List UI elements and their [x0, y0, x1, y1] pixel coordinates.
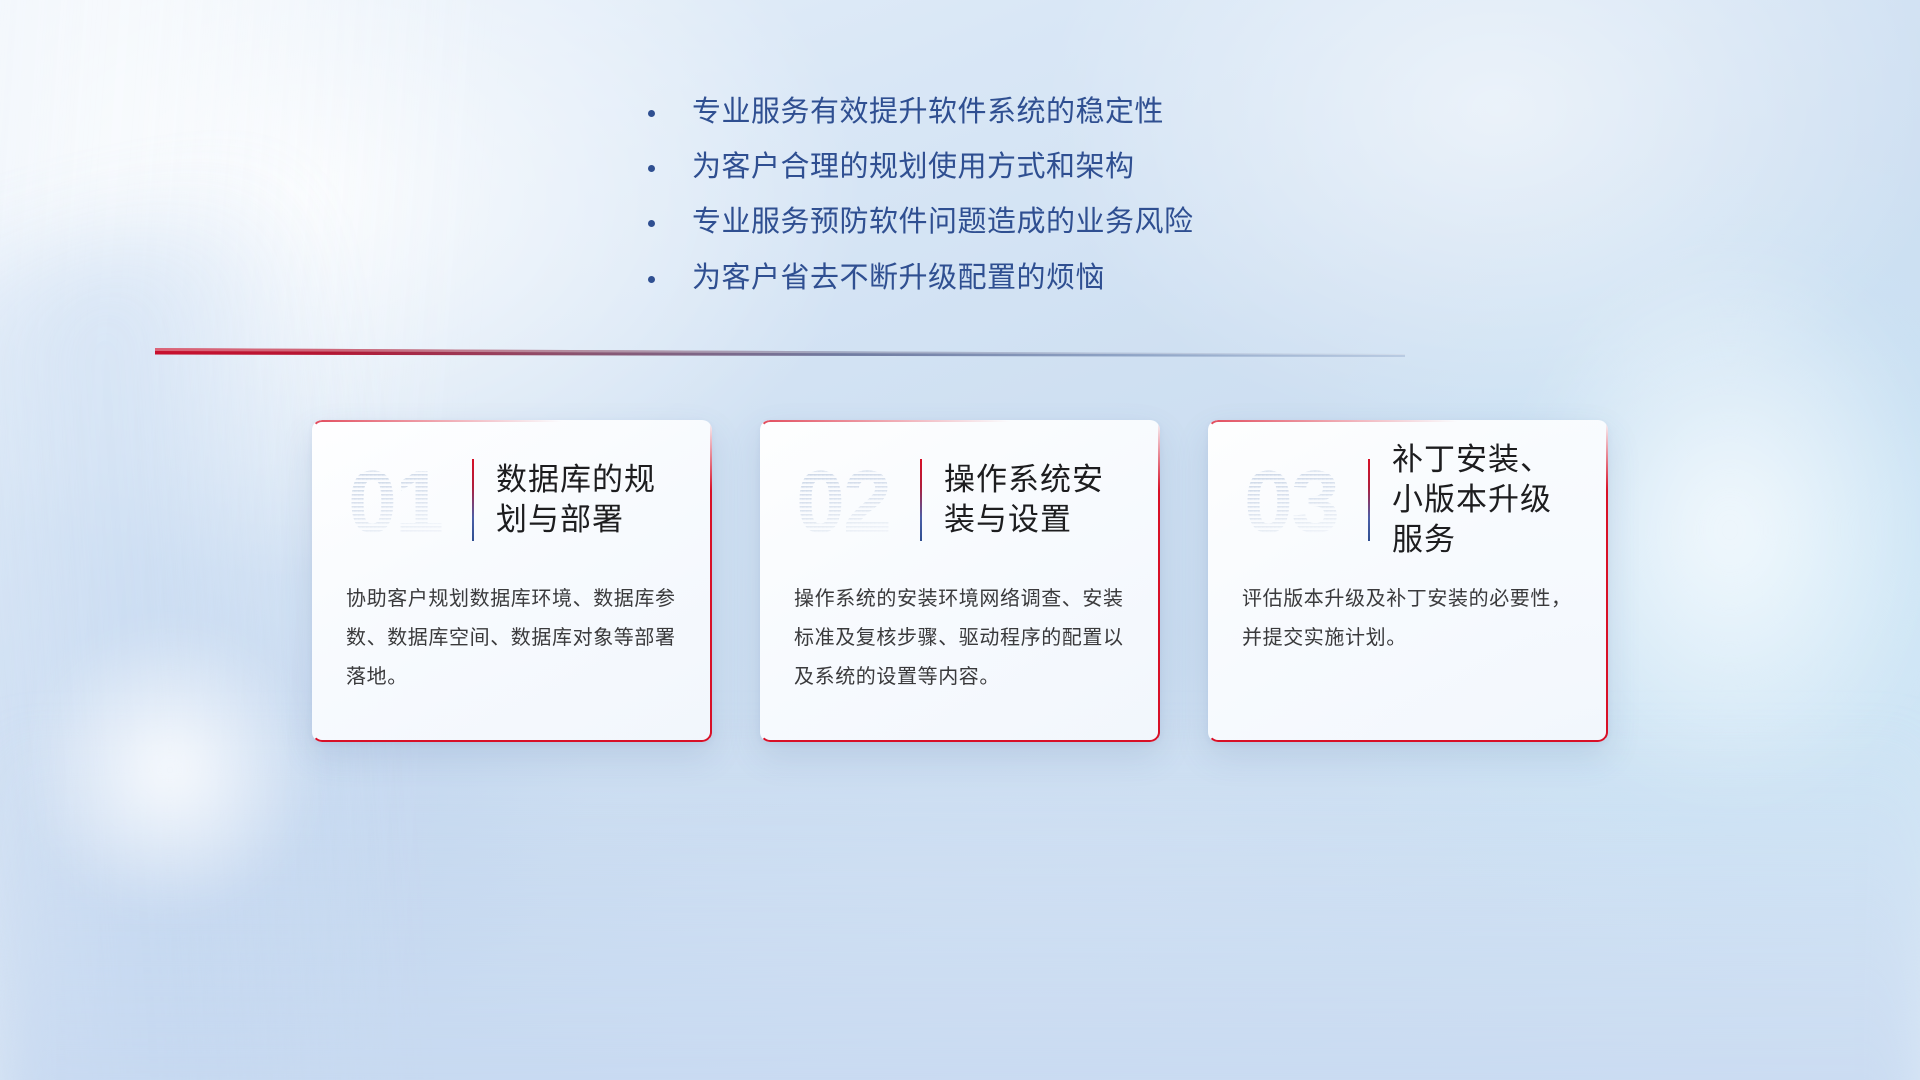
- bullet-text: 专业服务预防软件问题造成的业务风险: [692, 202, 1194, 243]
- card-header: 01 数据库的规划与部署: [312, 420, 712, 580]
- background-glow-bottom: [0, 720, 1920, 1080]
- service-card[interactable]: 03 补丁安装、小版本升级服务 评估版本升级及补丁安装的必要性，并提交实施计划。: [1208, 420, 1608, 742]
- card-title-divider: [920, 459, 922, 541]
- bullet-text: 为客户省去不断升级配置的烦恼: [692, 258, 1105, 299]
- card-body-text: 协助客户规划数据库环境、数据库参数、数据库空间、数据库对象等部署落地。: [312, 580, 712, 697]
- card-number-graphic: 01: [346, 454, 458, 546]
- card-title-divider: [472, 459, 474, 541]
- card-number-graphic: 03: [1242, 454, 1354, 546]
- bullet-dot-icon: [648, 276, 655, 283]
- svg-text:01: 01: [348, 454, 442, 546]
- bullet-dot-icon: [648, 165, 655, 172]
- benefits-bullet-list: 专业服务有效提升软件系统的稳定性 为客户合理的规划使用方式和架构 专业服务预防软…: [0, 92, 1920, 299]
- slide-canvas: 专业服务有效提升软件系统的稳定性 为客户合理的规划使用方式和架构 专业服务预防软…: [0, 0, 1920, 1080]
- card-body-text: 操作系统的安装环境网络调查、安装标准及复核步骤、驱动程序的配置以及系统的设置等内…: [760, 580, 1160, 697]
- list-item: 专业服务预防软件问题造成的业务风险: [640, 202, 1280, 243]
- section-divider: [155, 347, 1405, 361]
- list-item: 为客户合理的规划使用方式和架构: [640, 147, 1280, 188]
- card-title: 操作系统安装与设置: [944, 460, 1130, 541]
- bullet-text: 为客户合理的规划使用方式和架构: [692, 147, 1135, 188]
- list-item: 为客户省去不断升级配置的烦恼: [640, 258, 1280, 299]
- card-title-divider: [1368, 459, 1370, 541]
- card-number-graphic: 02: [794, 454, 906, 546]
- service-card[interactable]: 02 操作系统安装与设置 操作系统的安装环境网络调查、安装标准及复核步骤、驱动程…: [760, 420, 1160, 742]
- bullet-text: 专业服务有效提升软件系统的稳定性: [692, 92, 1164, 133]
- card-header: 03 补丁安装、小版本升级服务: [1208, 420, 1608, 580]
- bullet-dot-icon: [648, 220, 655, 227]
- bullet-dot-icon: [648, 110, 655, 117]
- card-header: 02 操作系统安装与设置: [760, 420, 1160, 580]
- card-title: 补丁安装、小版本升级服务: [1392, 440, 1578, 561]
- service-card[interactable]: 01 数据库的规划与部署 协助客户规划数据库环境、数据库参数、数据库空间、数据库…: [312, 420, 712, 742]
- card-body-text: 评估版本升级及补丁安装的必要性，并提交实施计划。: [1208, 580, 1608, 658]
- svg-text:02: 02: [796, 454, 890, 546]
- svg-text:03: 03: [1244, 454, 1338, 546]
- service-card-row: 01 数据库的规划与部署 协助客户规划数据库环境、数据库参数、数据库空间、数据库…: [0, 420, 1920, 742]
- list-item: 专业服务有效提升软件系统的稳定性: [640, 92, 1280, 133]
- card-title: 数据库的规划与部署: [496, 460, 682, 541]
